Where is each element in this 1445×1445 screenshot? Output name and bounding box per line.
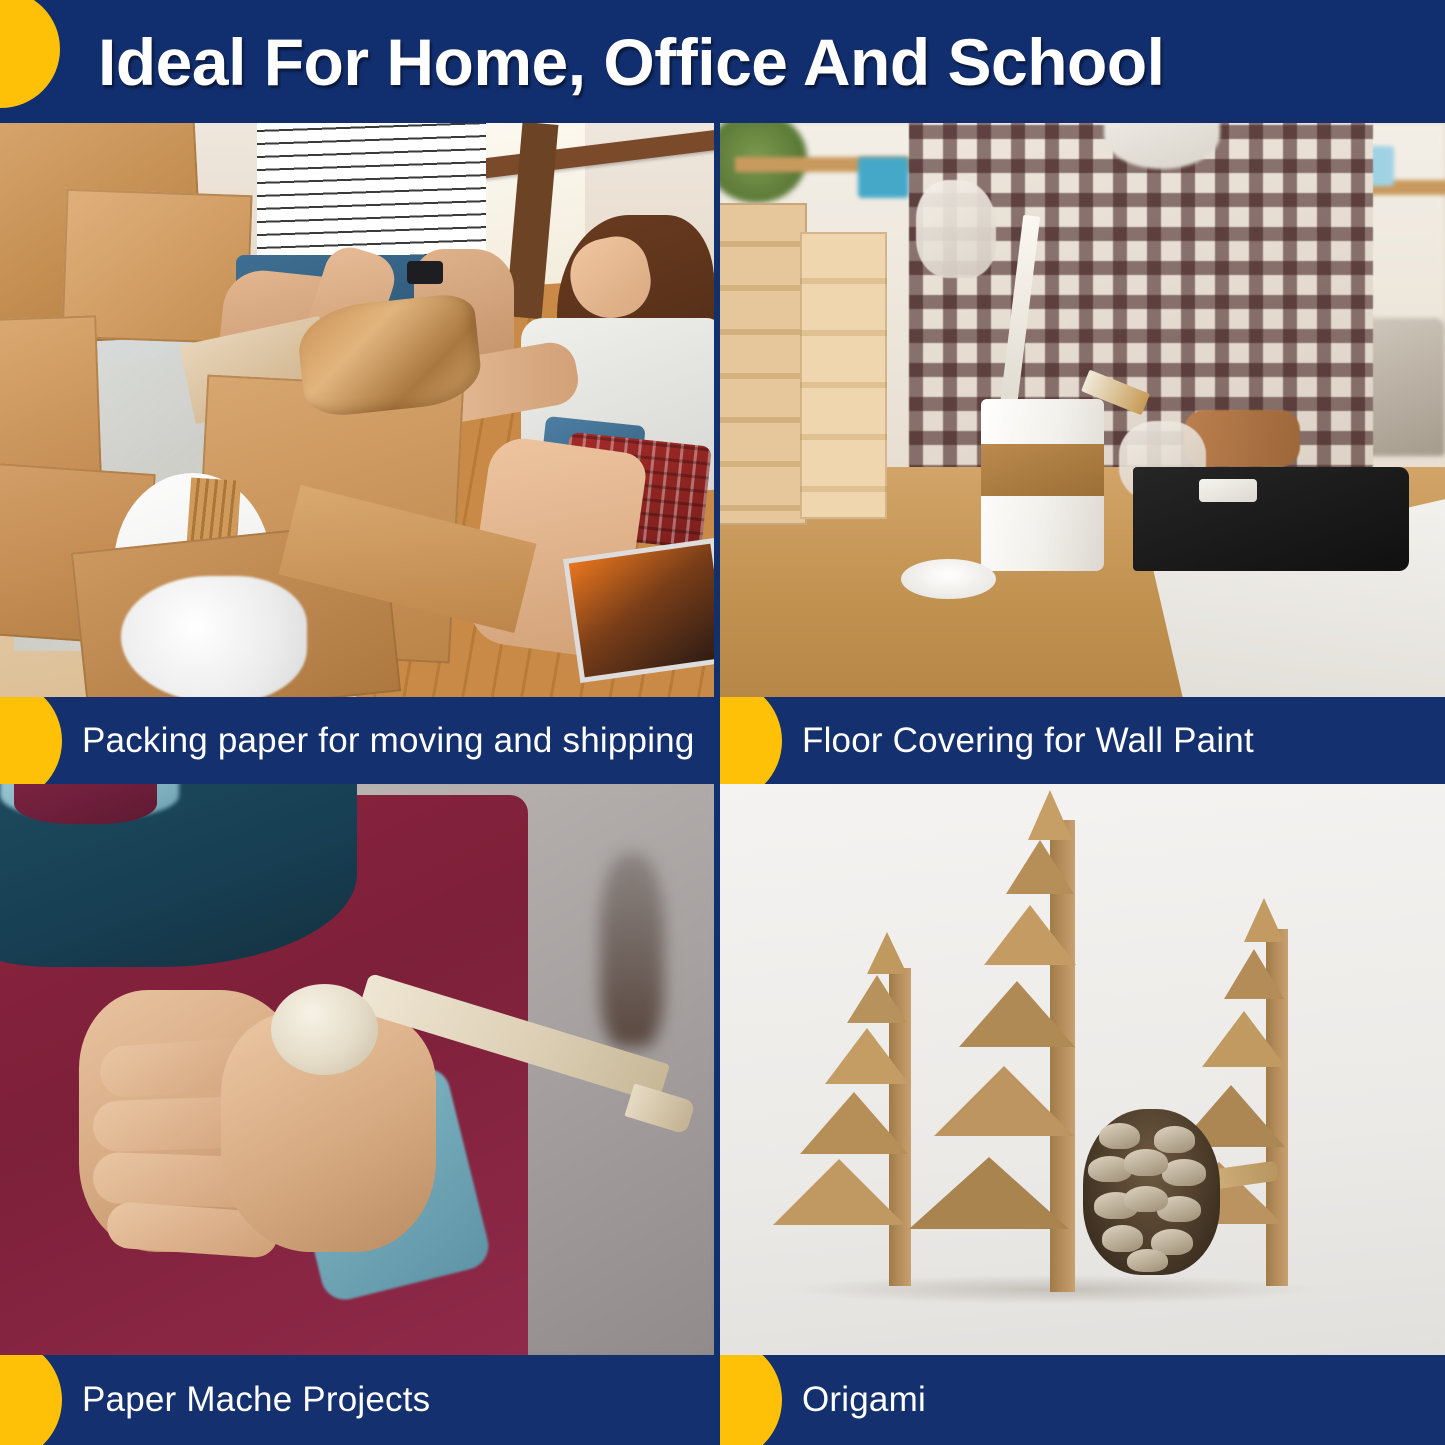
photo-tree-tier <box>984 905 1076 965</box>
photo-tree-tier <box>934 1066 1074 1136</box>
photo-tree-tier <box>773 1159 905 1225</box>
caption-bar-floor-covering: Floor Covering for Wall Paint <box>720 697 1445 784</box>
photo-tree-tier <box>867 932 907 974</box>
product-infographic: Ideal For Home, Office And School <box>0 0 1445 1445</box>
photo-paint-roller <box>1199 479 1257 502</box>
photo-pine-cone-scale <box>1124 1149 1168 1175</box>
photo-wooden-crate <box>720 203 807 524</box>
caption-accent-circle-icon <box>0 1355 62 1445</box>
photo-paper-mache <box>0 784 714 1355</box>
photo-blue-jar <box>858 157 909 197</box>
photo-gloved-hand <box>916 180 996 278</box>
photo-tree-tier <box>825 1028 909 1084</box>
photo-blurred-object <box>600 853 664 1047</box>
header-bar: Ideal For Home, Office And School <box>0 0 1445 123</box>
photo-paint-tray <box>1133 467 1409 570</box>
photo-packing-paper <box>0 123 714 697</box>
photo-floor-covering <box>720 123 1445 697</box>
photo-tree-tier <box>1006 840 1074 894</box>
photo-tree-tier <box>1202 1011 1286 1067</box>
caption-accent-circle-icon <box>720 1355 782 1445</box>
photo-pine-cone-scale <box>1154 1126 1195 1152</box>
photo-paper-mache-ball <box>271 984 378 1075</box>
photo-pine-cone-scale <box>1099 1123 1140 1149</box>
photo-tree-tier <box>959 981 1075 1047</box>
caption-label-floor-covering: Floor Covering for Wall Paint <box>802 697 1431 784</box>
caption-label-origami: Origami <box>802 1355 1431 1445</box>
photo-origami-trees <box>720 784 1445 1355</box>
caption-label-packing: Packing paper for moving and shipping <box>82 697 700 784</box>
photo-paper-tape-band <box>981 444 1104 496</box>
caption-label-paper-mache: Paper Mache Projects <box>82 1355 700 1445</box>
caption-accent-circle-icon <box>720 697 782 784</box>
panel-packing <box>0 123 714 697</box>
photo-pine-cone <box>1083 1109 1221 1275</box>
photo-pine-cone-scale <box>1124 1186 1168 1212</box>
photo-wooden-crate <box>800 232 887 519</box>
photo-tree-tier <box>909 1157 1069 1229</box>
photo-tree-tier <box>1224 949 1284 999</box>
photo-tree-tier <box>800 1092 908 1154</box>
photo-tree-tier <box>1244 898 1284 942</box>
photo-pine-cone-scale <box>1102 1225 1143 1251</box>
photo-collar-trim <box>14 784 157 824</box>
panel-origami <box>720 784 1445 1355</box>
panel-floor-covering <box>720 123 1445 697</box>
header-accent-circle-icon <box>0 0 60 108</box>
caption-accent-circle-icon <box>0 697 62 784</box>
panel-paper-mache <box>0 784 714 1355</box>
caption-bar-packing: Packing paper for moving and shipping <box>0 697 714 784</box>
caption-bar-paper-mache: Paper Mache Projects <box>0 1355 714 1445</box>
photo-paint-can-lid <box>901 559 995 599</box>
photo-tree-tier <box>1028 790 1072 840</box>
photo-framed-picture <box>563 538 714 683</box>
photo-white-fur <box>121 576 307 697</box>
photo-pine-cone-scale <box>1162 1159 1206 1185</box>
photo-pine-cone-scale <box>1127 1249 1168 1272</box>
photo-tree-tier <box>847 975 907 1023</box>
caption-bar-origami: Origami <box>720 1355 1445 1445</box>
photo-wristwatch <box>407 261 443 284</box>
page-title: Ideal For Home, Office And School <box>98 14 1398 110</box>
